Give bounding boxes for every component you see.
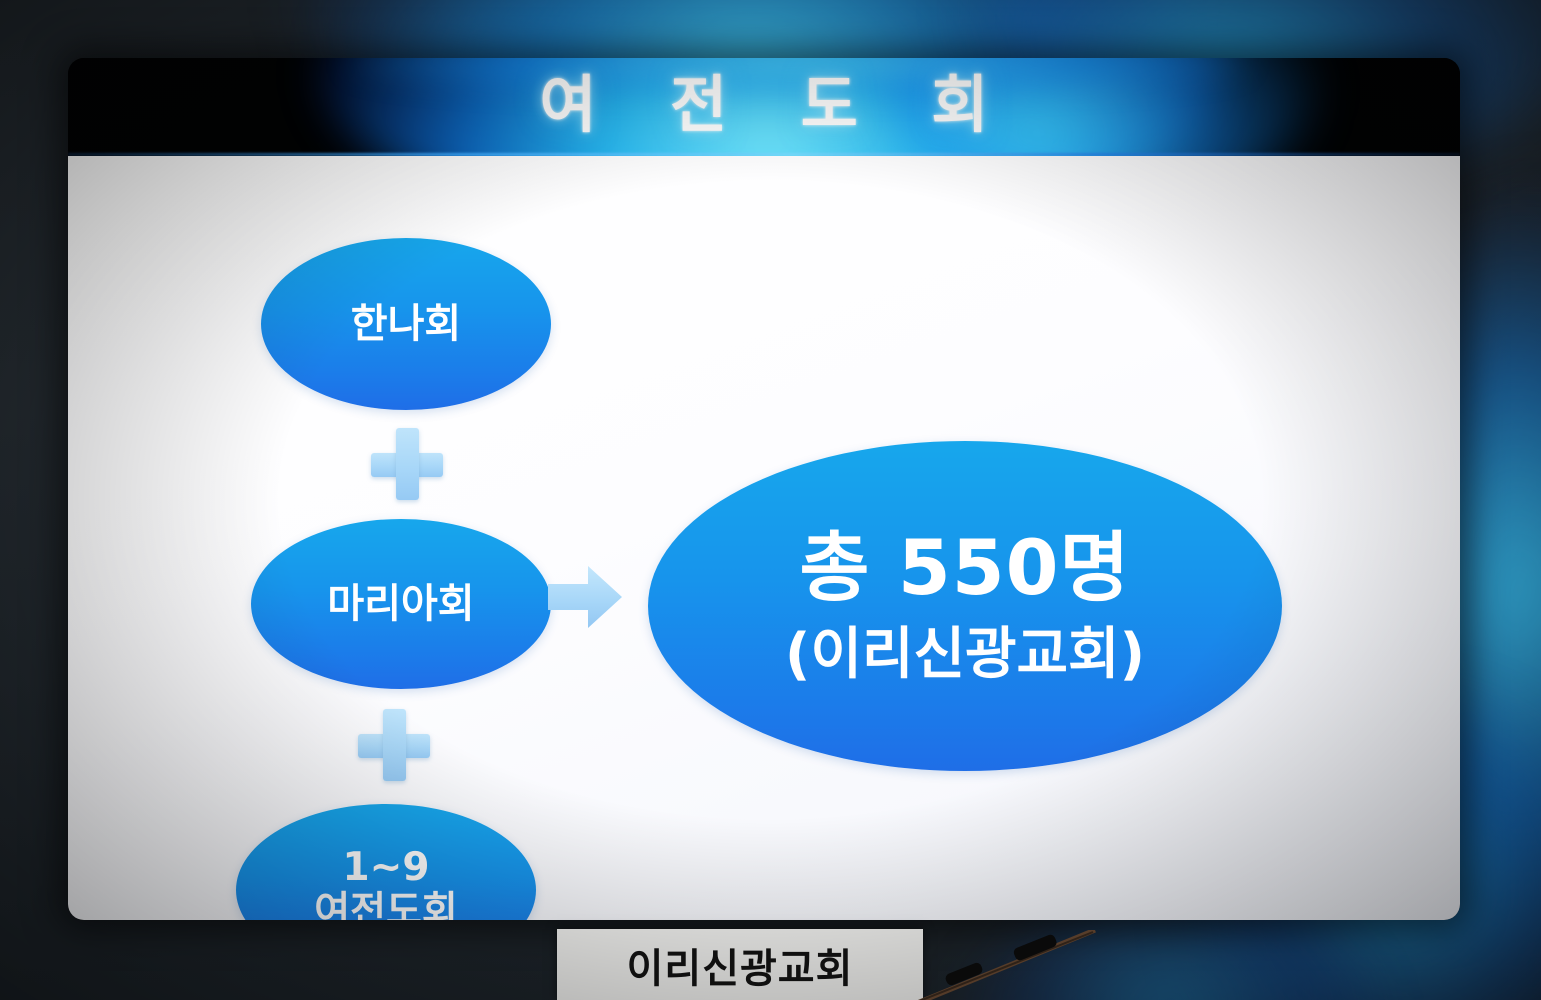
slide-header-band: 여 전 도 회 <box>68 58 1460 156</box>
plus-icon-1 <box>371 428 443 500</box>
photo-scene: 여 전 도 회 한나회 마리아회 1~9 여전도회 <box>0 0 1541 1000</box>
plus-icon-2 <box>358 709 430 781</box>
arrow-right-icon <box>546 560 624 634</box>
diagram-node-group-3: 1~9 여전도회 <box>236 804 536 920</box>
presentation-screen: 여 전 도 회 한나회 마리아회 1~9 여전도회 <box>68 58 1460 920</box>
diagram-node-group-3-label-line2: 여전도회 <box>314 890 458 920</box>
diagram-node-group-3-label-line1: 1~9 <box>343 846 430 890</box>
diagram-node-result-total: 총 550명 <box>800 525 1131 610</box>
church-name-placard: 이리신광교회 <box>557 929 923 1000</box>
diagram-node-group-2-label: 마리아회 <box>327 582 474 627</box>
diagram-node-group-1-label: 한나회 <box>351 302 461 347</box>
diagram-node-group-1: 한나회 <box>261 238 551 410</box>
diagram-node-result-church: (이리신광교회) <box>785 624 1145 687</box>
slide-body: 한나회 마리아회 1~9 여전도회 <box>68 156 1460 920</box>
diagram-node-group-2: 마리아회 <box>251 519 551 689</box>
church-name-placard-text: 이리신광교회 <box>627 936 854 994</box>
slide-title: 여 전 도 회 <box>68 74 1460 136</box>
diagram-node-result: 총 550명 (이리신광교회) <box>648 441 1282 771</box>
